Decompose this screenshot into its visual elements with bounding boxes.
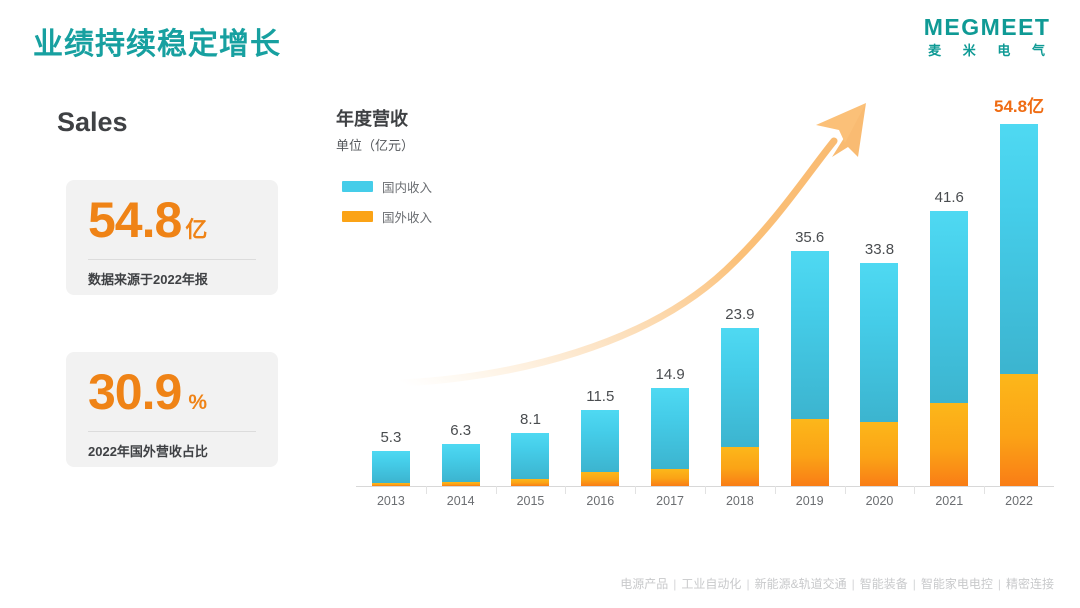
x-tick-2015: 2015 xyxy=(496,490,566,512)
bar-segment-domestic xyxy=(511,433,549,480)
footer-separator: | xyxy=(998,577,1001,591)
bar-segment-domestic xyxy=(930,211,968,403)
bar-value-label: 8.1 xyxy=(520,411,541,428)
bar-2018[interactable] xyxy=(721,328,759,486)
bar-segment-domestic xyxy=(721,328,759,447)
bar-segment-domestic xyxy=(442,444,480,482)
bar-2022[interactable] xyxy=(1000,124,1038,486)
bar-segment-overseas xyxy=(1000,374,1038,486)
bar-value-label: 23.9 xyxy=(725,306,754,323)
x-tick-2019: 2019 xyxy=(775,490,845,512)
bar-value-label: 5.3 xyxy=(380,429,401,446)
bar-2021[interactable] xyxy=(930,211,968,486)
chart-plot-area: 5.36.38.111.514.923.935.633.841.654.8亿 2… xyxy=(348,105,1054,512)
stat-number-sales: 54.8 xyxy=(88,192,181,248)
bar-slot: 54.8亿 xyxy=(984,103,1054,486)
x-tick-2014: 2014 xyxy=(426,490,496,512)
footer-item: 新能源&轨道交通 xyxy=(755,577,847,591)
bar-slot: 5.3 xyxy=(356,103,426,486)
bar-2014[interactable] xyxy=(442,444,480,486)
logo-wordmark: MEGMEET xyxy=(920,16,1054,39)
bar-slot: 41.6 xyxy=(914,103,984,486)
bar-slot: 8.1 xyxy=(496,103,566,486)
bar-slot: 11.5 xyxy=(565,103,635,486)
bar-2020[interactable] xyxy=(860,263,898,486)
footer-separator: | xyxy=(673,577,676,591)
x-tick-2022: 2022 xyxy=(984,490,1054,512)
stat-unit-sales: 亿 xyxy=(185,217,207,242)
footer-item: 工业自动化 xyxy=(681,577,741,591)
bar-segment-overseas xyxy=(930,403,968,486)
x-tick-2021: 2021 xyxy=(914,490,984,512)
bar-2015[interactable] xyxy=(511,433,549,486)
bar-value-label: 6.3 xyxy=(450,422,471,439)
bar-segment-overseas xyxy=(372,483,410,486)
stat-card-sales: 54.8亿 数据来源于2022年报 xyxy=(66,180,278,295)
x-tick-2018: 2018 xyxy=(705,490,775,512)
bar-value-label: 11.5 xyxy=(586,388,614,405)
page-title: 业绩持续稳定增长 xyxy=(33,19,281,63)
stat-number-ratio: 30.9 xyxy=(88,364,181,420)
bar-2013[interactable] xyxy=(372,451,410,486)
revenue-chart: 年度营收 单位（亿元） 国内收入 国外收入 xyxy=(336,105,1056,535)
x-tick-2017: 2017 xyxy=(635,490,705,512)
bar-value-label: 14.9 xyxy=(655,366,684,383)
bar-2019[interactable] xyxy=(791,251,829,486)
bar-segment-overseas xyxy=(860,422,898,486)
bar-value-label: 54.8亿 xyxy=(994,92,1044,117)
bar-slot: 14.9 xyxy=(635,103,705,486)
footer-separator: | xyxy=(852,577,855,591)
slide-root: 业绩持续稳定增长 MEGMEET 麦 米 电 气 Sales 54.8亿 数据来… xyxy=(0,0,1080,608)
bar-value-label: 41.6 xyxy=(935,189,964,206)
footer-separator: | xyxy=(746,577,749,591)
bar-segment-overseas xyxy=(791,419,829,486)
bar-segment-domestic xyxy=(1000,124,1038,374)
bar-group: 5.36.38.111.514.923.935.633.841.654.8亿 xyxy=(356,103,1054,486)
footer-business-lines: 电源产品|工业自动化|新能源&轨道交通|智能装备|智能家电电控|精密连接 xyxy=(620,575,1054,592)
stat-caption-sales: 数据来源于2022年报 xyxy=(66,260,278,288)
bar-2016[interactable] xyxy=(581,410,619,486)
bar-slot: 6.3 xyxy=(426,103,496,486)
bar-value-label: 35.6 xyxy=(795,229,824,246)
stat-caption-ratio: 2022年国外营收占比 xyxy=(66,432,278,460)
x-axis-labels: 2013201420152016201720182019202020212022 xyxy=(356,490,1054,512)
stat-unit-ratio: % xyxy=(188,391,207,414)
bar-slot: 35.6 xyxy=(775,103,845,486)
x-tick-2016: 2016 xyxy=(565,490,635,512)
bar-segment-overseas xyxy=(581,472,619,486)
bar-segment-overseas xyxy=(511,479,549,486)
bar-slot: 33.8 xyxy=(845,103,915,486)
stat-value-sales: 54.8亿 xyxy=(66,195,278,245)
sales-heading: Sales xyxy=(57,107,128,138)
bar-2017[interactable] xyxy=(651,388,689,486)
x-tick-2020: 2020 xyxy=(845,490,915,512)
bar-segment-domestic xyxy=(372,451,410,483)
bar-segment-domestic xyxy=(651,388,689,469)
bar-value-label: 33.8 xyxy=(865,241,894,258)
bar-segment-overseas xyxy=(442,482,480,486)
bar-slot: 23.9 xyxy=(705,103,775,486)
footer-item: 智能装备 xyxy=(860,577,908,591)
stat-value-ratio: 30.9% xyxy=(66,367,278,417)
footer-item: 精密连接 xyxy=(1006,577,1054,591)
footer-item: 电源产品 xyxy=(620,577,668,591)
bar-segment-overseas xyxy=(651,469,689,486)
bar-segment-domestic xyxy=(791,251,829,419)
x-tick-2013: 2013 xyxy=(356,490,426,512)
megmeet-logo: MEGMEET 麦 米 电 气 xyxy=(920,16,1054,57)
bar-segment-overseas xyxy=(721,447,759,486)
bar-segment-domestic xyxy=(860,263,898,422)
stat-card-overseas-ratio: 30.9% 2022年国外营收占比 xyxy=(66,352,278,467)
bar-segment-domestic xyxy=(581,410,619,472)
footer-separator: | xyxy=(913,577,916,591)
footer-item: 智能家电电控 xyxy=(921,577,993,591)
logo-subtext: 麦 米 电 气 xyxy=(928,44,1054,57)
